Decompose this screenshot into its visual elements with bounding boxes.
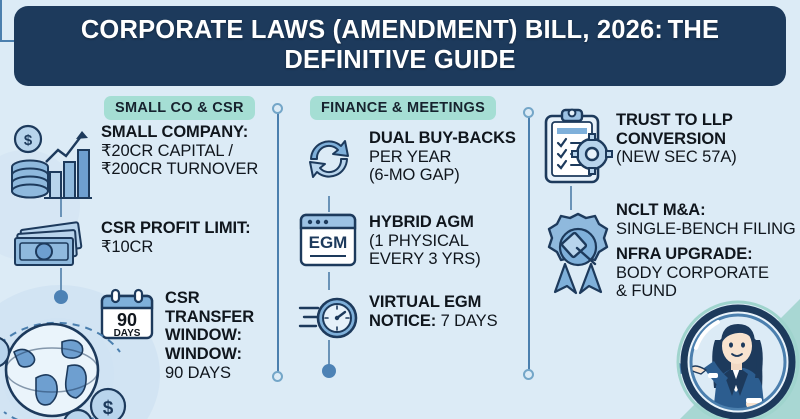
item-egm-notice-heading-2: NOTICE:: [369, 312, 436, 330]
connector-dot-mid: [322, 364, 336, 378]
section-small-co-csr: SMALL CO & CSR: [8, 96, 276, 120]
item-csr-profit-heading: CSR PROFIT LIMIT:: [101, 219, 251, 238]
persona-connector-vertical: [0, 0, 2, 40]
section-finance-meetings: FINANCE & MEETINGS: [292, 96, 514, 120]
banknotes-icon: [8, 218, 92, 281]
item-trust-llp-heading-2: CONVERSION: [616, 130, 737, 149]
item-buybacks-body-1: PER YEAR: [369, 148, 516, 167]
item-csr-window-heading-4: WINDOW:: [165, 345, 254, 364]
item-csr-profit-limit: CSR PROFIT LIMIT: ₹10CR: [8, 218, 278, 281]
item-csr-window-body-1: 90 DAYS: [165, 364, 254, 383]
item-hybrid-agm: EGM HYBRID AGM (1 PHYSICAL EVERY 3 YRS): [298, 212, 516, 275]
item-csr-profit-body-1: ₹10CR: [101, 238, 251, 257]
header-banner: CORPORATE LAWS (AMENDMENT) BILL, 2026: T…: [14, 6, 786, 86]
item-nfra-text: NFRA UPGRADE: BODY CORPORATE & FUND: [616, 244, 769, 301]
spine-node-top-right: [523, 107, 534, 118]
svg-text:$: $: [24, 132, 33, 149]
spine-node-bottom-right: [523, 369, 534, 380]
item-egm-notice-line-2: NOTICE: 7 DAYS: [369, 312, 498, 331]
item-dual-buybacks: DUAL BUY-BACKS PER YEAR (6-MO GAP): [298, 128, 516, 195]
item-nfra-body-2: & FUND: [616, 282, 769, 301]
item-csr-window-text: CSR TRANSFER WINDOW: WINDOW: 90 DAYS: [165, 288, 254, 382]
item-virtual-egm-notice: VIRTUAL EGM NOTICE: 7 DAYS: [298, 292, 516, 351]
globe-dollar-coins-icon: $ $: [0, 308, 166, 419]
item-csr-window-heading-2: TRANSFER: [165, 308, 254, 327]
businesswoman-pointing-icon: [676, 300, 800, 419]
item-agm-text: HYBRID AGM (1 PHYSICAL EVERY 3 YRS): [369, 212, 481, 269]
item-trust-llp-body-1: (NEW SEC 57A): [616, 148, 737, 167]
item-agm-body-1: (1 PHYSICAL: [369, 232, 481, 251]
item-small-company-heading: SMALL COMPANY:: [101, 123, 258, 142]
egm-window-icon: EGM: [298, 212, 360, 275]
refresh-cycle-icon: [298, 128, 360, 195]
item-nclt-heading: NCLT M&A:: [616, 201, 796, 220]
item-trust-llp-heading-1: TRUST TO LLP: [616, 111, 737, 130]
item-trust-llp-text: TRUST TO LLP CONVERSION (NEW SEC 57A): [616, 110, 737, 167]
item-buybacks-heading: DUAL BUY-BACKS: [369, 129, 516, 148]
connector-mid-1: [328, 196, 330, 212]
item-agm-heading: HYBRID AGM: [369, 213, 481, 232]
growth-chart-coins-icon: $: [8, 122, 92, 207]
infographic-canvas: CORPORATE LAWS (AMENDMENT) BILL, 2026: T…: [0, 0, 800, 419]
item-buybacks-text: DUAL BUY-BACKS PER YEAR (6-MO GAP): [369, 128, 516, 185]
item-csr-profit-text: CSR PROFIT LIMIT: ₹10CR: [101, 218, 251, 256]
egm-icon-label: EGM: [309, 233, 348, 252]
page-title: CORPORATE LAWS (AMENDMENT) BILL, 2026: T…: [32, 16, 768, 75]
item-csr-window-heading-3: WINDOW:: [165, 326, 254, 345]
item-nfra-upgrade: NFRA UPGRADE: BODY CORPORATE & FUND: [538, 244, 800, 301]
section-badge-finance-meetings: FINANCE & MEETINGS: [310, 96, 496, 120]
item-small-company: $: [8, 122, 278, 207]
item-nclt-ma: NCLT M&A: SINGLE-BENCH FILING: [538, 200, 800, 238]
item-egm-notice-text: VIRTUAL EGM NOTICE: 7 DAYS: [369, 292, 498, 330]
item-nfra-heading: NFRA UPGRADE:: [616, 245, 769, 264]
column-divider-line-right: [528, 112, 530, 374]
item-nclt-body-1: SINGLE-BENCH FILING: [616, 220, 796, 239]
item-egm-notice-body: 7 DAYS: [436, 312, 497, 330]
item-nclt-text: NCLT M&A: SINGLE-BENCH FILING: [616, 200, 796, 238]
item-trust-to-llp: TRUST TO LLP CONVERSION (NEW SEC 57A): [538, 110, 800, 167]
item-csr-window-heading-1: CSR: [165, 289, 254, 308]
item-small-company-body-1: ₹20CR CAPITAL /: [101, 142, 258, 161]
section-badge-small-co-csr: SMALL CO & CSR: [104, 96, 255, 120]
connector-dot-left: [54, 290, 68, 304]
item-agm-body-2: EVERY 3 YRS): [369, 250, 481, 269]
item-nfra-body-1: BODY CORPORATE: [616, 264, 769, 283]
page-title-line1: CORPORATE LAWS (AMENDMENT) BILL, 2026:: [81, 16, 663, 44]
item-small-company-body-2: ₹200CR TURNOVER: [101, 160, 258, 179]
item-small-company-text: SMALL COMPANY: ₹20CR CAPITAL / ₹200CR TU…: [101, 122, 258, 179]
item-buybacks-body-2: (6-MO GAP): [369, 166, 516, 185]
item-egm-notice-heading-1: VIRTUAL EGM: [369, 293, 498, 312]
speed-clock-icon: [298, 292, 360, 351]
svg-text:$: $: [103, 398, 114, 419]
